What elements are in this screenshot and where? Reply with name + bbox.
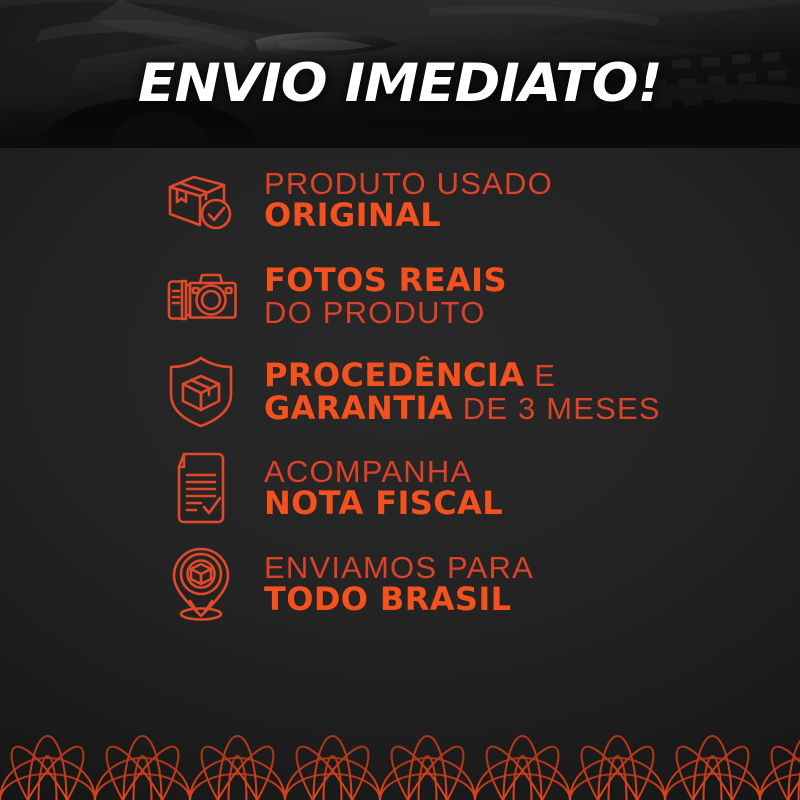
- box-check-icon: [162, 161, 240, 239]
- feature-line-2: TODO BRASIL: [264, 583, 534, 616]
- feature-line-2: DO PRODUTO: [264, 297, 507, 329]
- banner-header: ENVIO IMEDIATO!: [0, 0, 800, 148]
- list-item: FOTOS REAIS DO PRODUTO: [0, 248, 800, 344]
- feature-text: FOTOS REAIS DO PRODUTO: [264, 264, 507, 328]
- feature-line-1: ENVIAMOS PARA: [264, 552, 534, 584]
- page-title: ENVIO IMEDIATO!: [138, 53, 662, 114]
- feature-line-2: GARANTIA DE 3 MESES: [264, 392, 661, 425]
- feature-line-1: PROCEDÊNCIA E: [264, 359, 661, 392]
- invoice-check-icon: [162, 449, 240, 527]
- location-pin-box-icon: [162, 545, 240, 623]
- feature-text: ACOMPANHA NOTA FISCAL: [264, 456, 503, 520]
- feature-line-2: ORIGINAL: [264, 199, 553, 232]
- list-item: ENVIAMOS PARA TODO BRASIL: [0, 536, 800, 632]
- floral-lattice-border: [0, 708, 800, 800]
- feature-text: PRODUTO USADO ORIGINAL: [264, 168, 553, 232]
- feature-line-2: NOTA FISCAL: [264, 487, 503, 520]
- feature-list: PRODUTO USADO ORIGINAL: [0, 152, 800, 632]
- promo-banner: ENVIO IMEDIATO! PRODUTO USADO: [0, 0, 800, 800]
- feature-text: PROCEDÊNCIA E GARANTIA DE 3 MESES: [264, 359, 661, 424]
- camera-icon: [162, 257, 240, 335]
- feature-line-1: PRODUTO USADO: [264, 168, 553, 200]
- shield-box-icon: [162, 353, 240, 431]
- feature-line-1: ACOMPANHA: [264, 456, 503, 488]
- list-item: ACOMPANHA NOTA FISCAL: [0, 440, 800, 536]
- list-item: PRODUTO USADO ORIGINAL: [0, 152, 800, 248]
- feature-text: ENVIAMOS PARA TODO BRASIL: [264, 552, 534, 616]
- headline-container: ENVIO IMEDIATO!: [0, 0, 800, 148]
- feature-line-1: FOTOS REAIS: [264, 264, 507, 297]
- list-item: PROCEDÊNCIA E GARANTIA DE 3 MESES: [0, 344, 800, 440]
